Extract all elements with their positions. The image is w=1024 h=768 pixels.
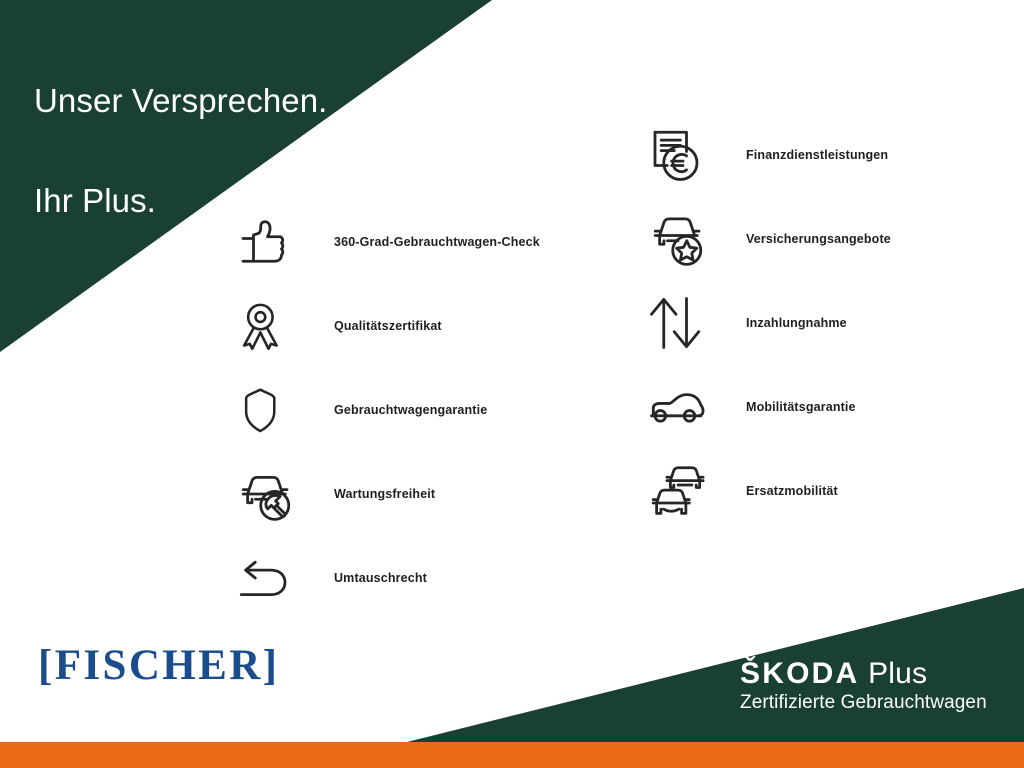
feature-list-left: 360-Grad-Gebrauchtwagen-Check Qualitätsz… bbox=[236, 200, 616, 620]
promo-banner: Unser Versprechen. Ihr Plus. 360-Grad-Ge… bbox=[0, 0, 1024, 768]
dealer-logo: [FISCHER] bbox=[38, 644, 279, 687]
feature-item-360-grad-check: 360-Grad-Gebrauchtwagen-Check bbox=[236, 200, 616, 284]
feature-item-ersatzmobilitaet: Ersatzmobilität bbox=[648, 449, 1024, 533]
feature-label: Umtauschrecht bbox=[308, 571, 427, 585]
feature-label: Qualitätszertifikat bbox=[308, 319, 442, 333]
feature-item-finanzdienstleistungen: Finanzdienstleistungen bbox=[648, 113, 1024, 197]
feature-item-gebrauchtwagengarantie: Gebrauchtwagengarantie bbox=[236, 368, 616, 452]
skoda-plus-text: Plus bbox=[868, 657, 927, 690]
document-euro-icon bbox=[648, 124, 720, 186]
feature-item-wartungsfreiheit: Wartungsfreiheit bbox=[236, 452, 616, 536]
feature-label: 360-Grad-Gebrauchtwagen-Check bbox=[308, 235, 540, 249]
feature-item-mobilitaetsgarantie: Mobilitätsgarantie bbox=[648, 365, 1024, 449]
thumbs-up-icon bbox=[236, 211, 308, 273]
two-cars-icon bbox=[648, 460, 720, 522]
return-arrow-icon bbox=[236, 547, 308, 609]
feature-label: Mobilitätsgarantie bbox=[720, 400, 856, 414]
feature-label: Inzahlungnahme bbox=[720, 316, 847, 330]
shield-icon bbox=[236, 379, 308, 441]
feature-label: Finanzdienstleistungen bbox=[720, 148, 888, 162]
skoda-plus-logo: ŠKODA Plus Zertifizierte Gebrauchtwagen bbox=[740, 658, 987, 714]
orange-accent-bar bbox=[0, 742, 1024, 768]
car-wrench-icon bbox=[236, 463, 308, 525]
skoda-logo-line-1: ŠKODA Plus bbox=[740, 658, 987, 690]
feature-item-qualitaetszertifikat: Qualitätszertifikat bbox=[236, 284, 616, 368]
headline-line-1: Unser Versprechen. bbox=[34, 76, 327, 126]
feature-label: Ersatzmobilität bbox=[720, 484, 838, 498]
feature-item-inzahlungnahme: Inzahlungnahme bbox=[648, 281, 1024, 365]
skoda-tagline: Zertifizierte Gebrauchtwagen bbox=[740, 692, 987, 714]
award-rosette-icon bbox=[236, 295, 308, 357]
skoda-brand-text: ŠKODA bbox=[740, 657, 859, 690]
feature-label: Versicherungsangebote bbox=[720, 232, 891, 246]
feature-label: Gebrauchtwagengarantie bbox=[308, 403, 487, 417]
feature-item-versicherungsangebote: Versicherungsangebote bbox=[648, 197, 1024, 281]
feature-label: Wartungsfreiheit bbox=[308, 487, 435, 501]
feature-list-right: Finanzdienstleistungen Versicherungsange… bbox=[648, 113, 1024, 533]
up-down-arrows-icon bbox=[648, 292, 720, 354]
car-star-icon bbox=[648, 208, 720, 270]
car-side-icon bbox=[648, 376, 720, 438]
feature-item-umtauschrecht: Umtauschrecht bbox=[236, 536, 616, 620]
